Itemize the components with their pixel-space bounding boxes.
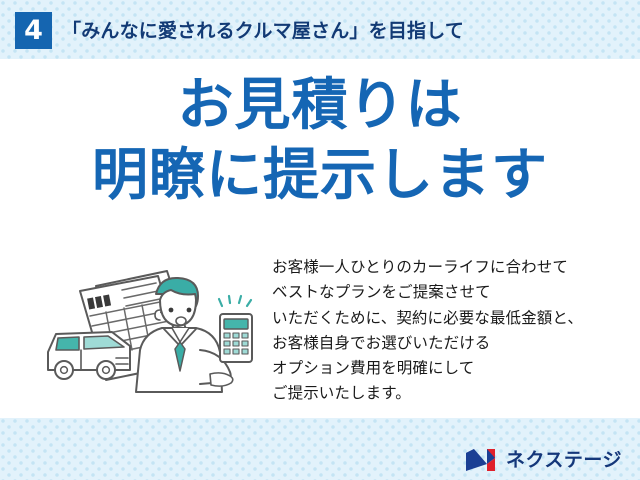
brand-name: ネクステージ [506,448,622,472]
headline-line-2: 明瞭に提示します [0,148,640,204]
body-line-4: お客様自身でお選びいただける [272,331,632,356]
calculator-illustration [219,296,252,362]
body-line-6: ご提示いたします。 [272,381,632,406]
body-line-5: オプション費用を明確にして [272,356,632,381]
body-copy: お客様一人ひとりのカーライフに合わせて ベストなプランをご提案させて いただくた… [272,255,632,407]
headline-line-1: お見積りは [0,78,640,148]
body-line-2: ベストなプランをご提案させて [272,280,632,305]
illustration-quote-scene [34,258,274,413]
promo-banner: 4 「みんなに愛されるクルマ屋さん」を目指して お見積りは 明瞭に提示します [0,0,640,480]
body-line-3: いただくために、契約に必要な最低金額と、 [272,306,632,331]
brand-logo: ネクステージ [465,446,622,473]
calculator-keys [224,333,248,354]
nextage-n-mark-icon [465,448,499,472]
header-title: 「みんなに愛されるクルマ屋さん」を目指して [62,17,464,45]
body-line-1: お客様一人ひとりのカーライフに合わせて [272,255,632,280]
headline: お見積りは 明瞭に提示します [0,78,640,204]
illustration-svg [34,258,274,413]
sparkle-icon [219,296,251,306]
section-number-badge: 4 [15,12,52,49]
